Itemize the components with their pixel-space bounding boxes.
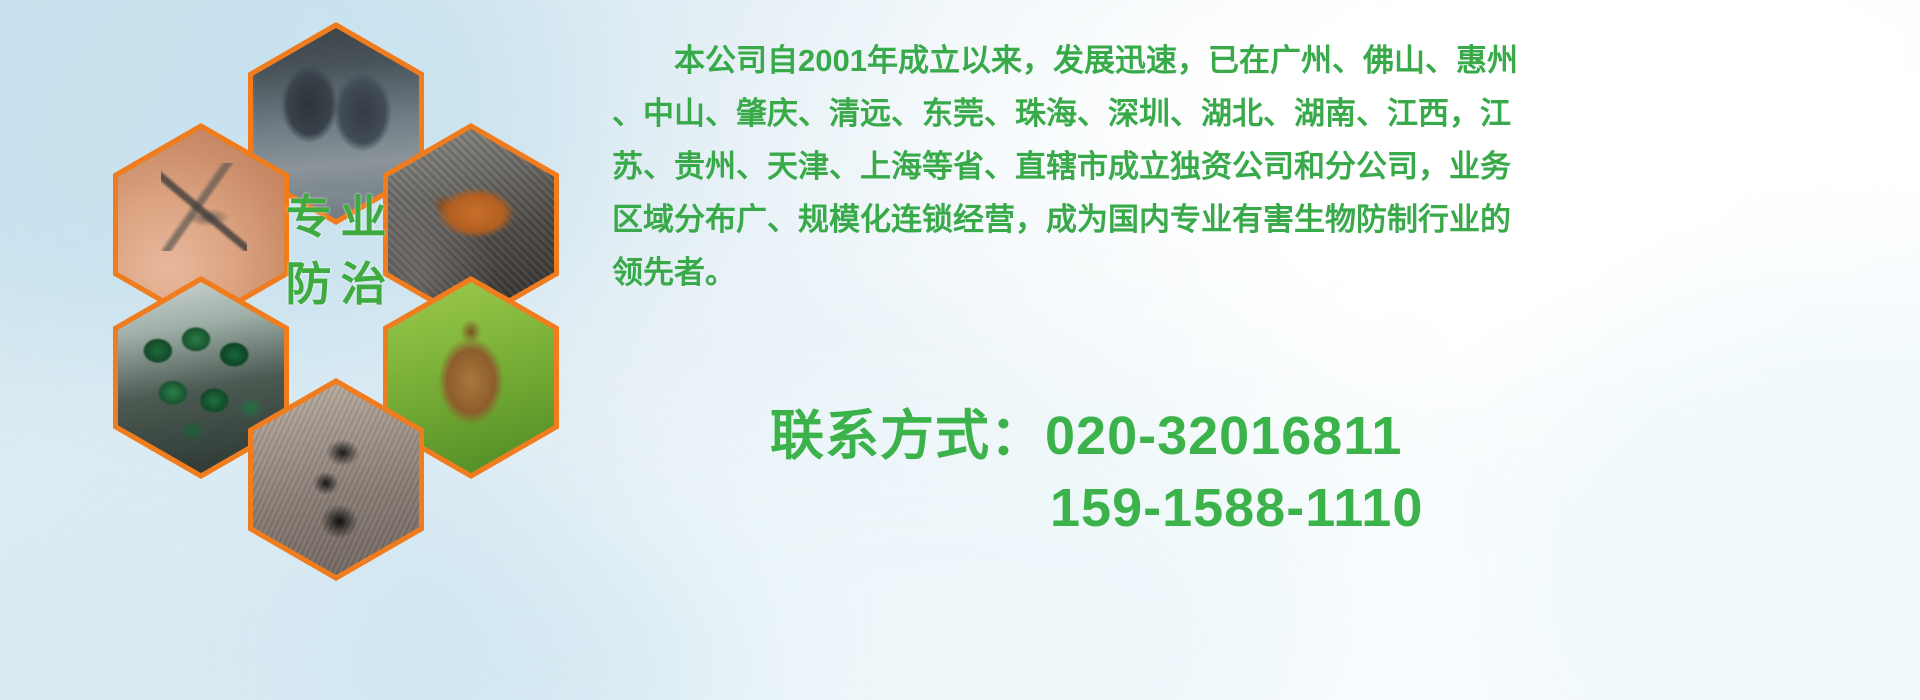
hexagon-photo-cluster: 专业 防治	[85, 8, 585, 568]
hex-center-label: 专业 防治	[248, 149, 424, 352]
intro-copy-block: 本公司自2001年成立以来，发展迅速，已在广州、佛山、惠州 、中山、肇庆、清远、…	[612, 34, 1902, 299]
ant-image	[253, 384, 419, 575]
hex-center-label-line1: 专业	[277, 188, 396, 247]
intro-line-3: 苏、贵州、天津、上海等省、直辖市成立独资公司和分公司，业务	[612, 140, 1902, 193]
promotional-banner: 专业 防治 本公司自2001年成立以来，发展迅速，已在广州、佛山、惠州 、中山、…	[0, 0, 1920, 700]
contact-phone-landline[interactable]: 联系方式：020-32016811	[770, 400, 1423, 472]
contact-block: 联系方式：020-32016811 159-1588-1110	[770, 400, 1423, 544]
hex-center-label-line2: 防治	[277, 255, 396, 314]
intro-line-2: 、中山、肇庆、清远、东莞、珠海、深圳、湖北、湖南、江西，江	[612, 87, 1902, 140]
intro-line-4: 区域分布广、规模化连锁经营，成为国内专业有害生物防制行业的	[612, 193, 1902, 246]
company-intro-paragraph: 本公司自2001年成立以来，发展迅速，已在广州、佛山、惠州 、中山、肇庆、清远、…	[612, 34, 1902, 299]
background-blotch	[1500, 300, 1920, 700]
intro-line-1: 本公司自2001年成立以来，发展迅速，已在广州、佛山、惠州	[612, 34, 1902, 87]
intro-line-5: 领先者。	[612, 246, 1902, 299]
contact-phone-mobile[interactable]: 159-1588-1110	[770, 472, 1423, 544]
